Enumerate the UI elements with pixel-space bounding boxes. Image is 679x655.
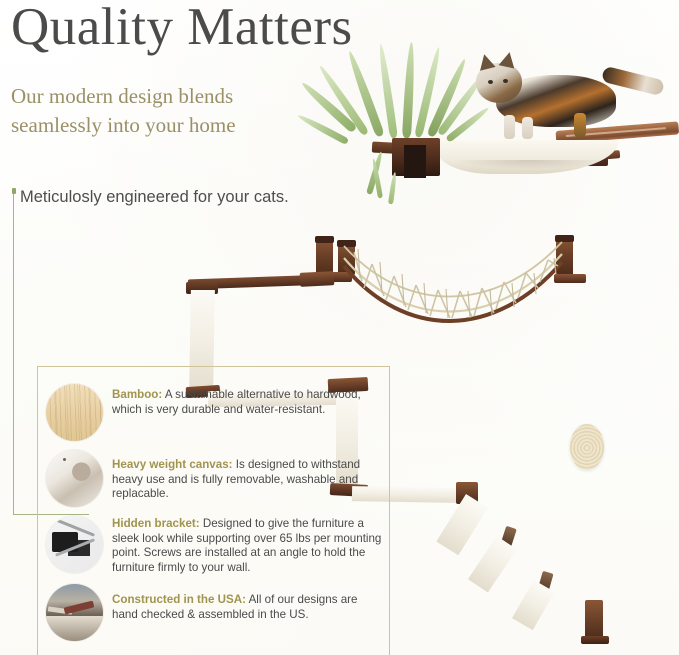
planter-inner — [404, 145, 426, 178]
calico-cat — [470, 45, 660, 150]
bamboo-wood-swatch-icon — [46, 384, 103, 441]
workshop-assembly-icon — [46, 584, 103, 641]
subtitle: Our modern design blends seamlessly into… — [11, 82, 311, 140]
feature-text: Hidden bracket: Designed to give the fur… — [112, 515, 384, 575]
rope-bridge — [310, 236, 640, 332]
cat-hind-leg — [574, 113, 586, 137]
cat-ear-right — [499, 51, 518, 69]
feature-label: Hidden bracket: — [112, 517, 200, 530]
lower-ramp-foot — [581, 636, 609, 644]
tagline: Meticulosly engineered for your cats. — [20, 186, 289, 208]
feature-label: Bamboo: — [112, 388, 162, 401]
feature-list: Bamboo: A sustainable alternative to har… — [38, 383, 390, 649]
feature-item: Constructed in the USA: All of our desig… — [38, 583, 390, 641]
feature-text: Bamboo: A sustainable alternative to har… — [112, 383, 384, 417]
feature-text: Constructed in the USA: All of our desig… — [112, 583, 384, 622]
metal-bracket-icon — [46, 516, 103, 573]
feature-item: Hidden bracket: Designed to give the fur… — [38, 515, 390, 575]
accent-connector-line — [13, 194, 14, 515]
bridge-rope-deck — [310, 236, 640, 332]
feature-label: Constructed in the USA: — [112, 593, 246, 606]
hammock-shadow — [455, 160, 605, 169]
product-feature-graphic: Quality Matters Our modern design blends… — [0, 0, 679, 655]
page-title: Quality Matters — [11, 0, 353, 58]
cat-front-leg-2 — [522, 117, 533, 139]
lower-ramp-bracket-end — [585, 600, 603, 640]
feature-item: Heavy weight canvas: Is designed to with… — [38, 449, 390, 507]
canvas-fabric-swatch-icon — [46, 450, 103, 507]
sisal-rope-scratcher — [570, 424, 604, 470]
feature-text: Heavy weight canvas: Is designed to with… — [112, 449, 384, 502]
cat-front-leg — [504, 115, 515, 139]
upper-shelf-bracket-right — [300, 271, 335, 287]
feature-label: Heavy weight canvas: — [112, 458, 233, 471]
feature-item: Bamboo: A sustainable alternative to har… — [38, 383, 390, 441]
